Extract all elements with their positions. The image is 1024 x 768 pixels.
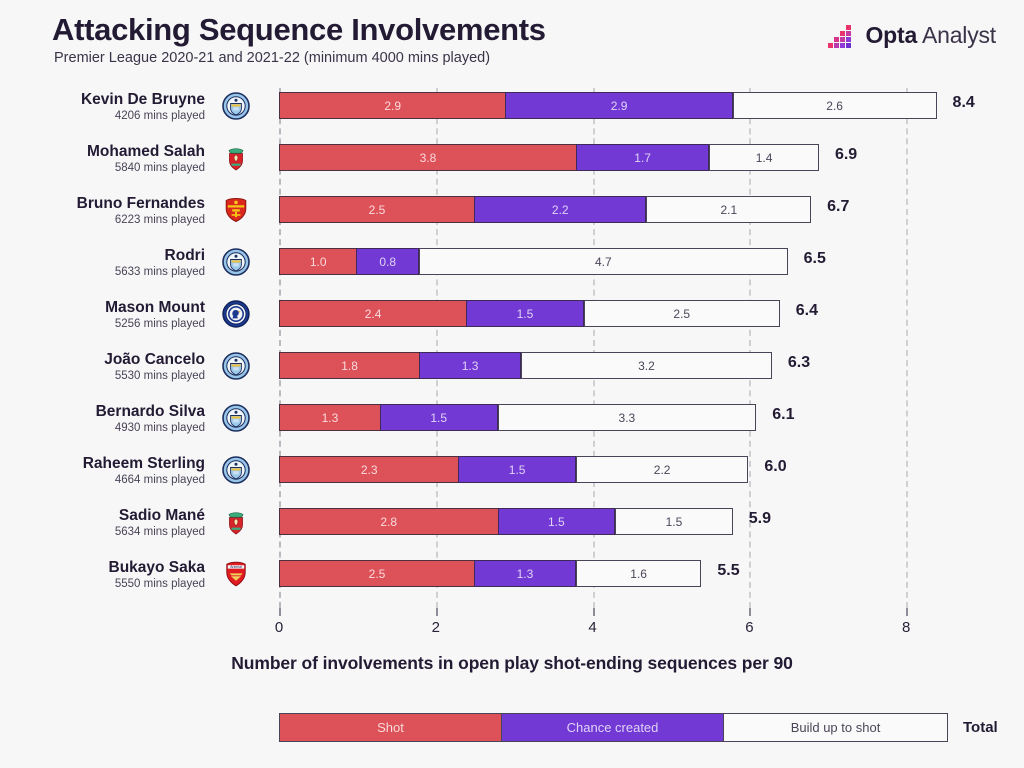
bar-segment-chance-created[interactable]: 1.5 bbox=[466, 300, 584, 327]
player-minutes-played: 4930 mins played bbox=[20, 421, 205, 436]
bar-segment-shot[interactable]: 1.3 bbox=[279, 404, 381, 431]
player-name: Mohamed Salah bbox=[20, 143, 205, 161]
bar-segment-shot[interactable]: 2.3 bbox=[279, 456, 459, 483]
bar-total-value: 5.9 bbox=[749, 510, 771, 528]
bar-total-value: 6.7 bbox=[827, 198, 849, 216]
player-name: Bernardo Silva bbox=[20, 403, 205, 421]
bar-total-value: 6.9 bbox=[835, 146, 857, 164]
axis-tick bbox=[436, 608, 438, 616]
chart-row: Bukayo Saka5550 mins playedArsenal2.51.3… bbox=[0, 556, 1024, 608]
chart-row: Bernardo Silva4930 mins played1.31.53.36… bbox=[0, 400, 1024, 452]
liverpool-badge bbox=[222, 508, 250, 536]
axis-tick-label: 4 bbox=[588, 619, 596, 636]
man-city-badge bbox=[222, 456, 250, 484]
stacked-bar[interactable]: 1.00.84.7 bbox=[279, 248, 789, 275]
x-axis: 02468 bbox=[0, 608, 1024, 648]
player-label: João Cancelo5530 mins played bbox=[20, 351, 205, 384]
chart-row: Sadio Mané5634 mins played2.81.51.55.9 bbox=[0, 504, 1024, 556]
bar-segment-shot[interactable]: 2.9 bbox=[279, 92, 506, 119]
stacked-bar[interactable]: 1.81.33.2 bbox=[279, 352, 773, 379]
opta-analyst-logo: Opta Analyst bbox=[828, 22, 996, 49]
bar-segment-chance-created[interactable]: 1.7 bbox=[576, 144, 709, 171]
bar-segment-shot[interactable]: 1.8 bbox=[279, 352, 420, 379]
player-label: Bruno Fernandes6223 mins played bbox=[20, 195, 205, 228]
legend-item-build-up-to-shot[interactable]: Build up to shot bbox=[724, 713, 948, 742]
logo-brand-opta: Opta bbox=[865, 22, 917, 48]
player-label: Mohamed Salah5840 mins played bbox=[20, 143, 205, 176]
bar-segment-shot[interactable]: 2.4 bbox=[279, 300, 467, 327]
chart-row: Raheem Sterling4664 mins played2.31.52.2… bbox=[0, 452, 1024, 504]
player-minutes-played: 5634 mins played bbox=[20, 525, 205, 540]
player-minutes-played: 6223 mins played bbox=[20, 213, 205, 228]
logo-brand-analyst: Analyst bbox=[922, 22, 996, 48]
chart-row: Bruno Fernandes6223 mins played2.52.22.1… bbox=[0, 192, 1024, 244]
bar-segment-shot[interactable]: 2.5 bbox=[279, 196, 475, 223]
axis-tick bbox=[906, 608, 908, 616]
axis-tick-label: 0 bbox=[275, 619, 283, 636]
bar-segment-chance-created[interactable]: 2.9 bbox=[505, 92, 732, 119]
player-name: Rodri bbox=[20, 247, 205, 265]
player-name: Raheem Sterling bbox=[20, 455, 205, 473]
chart-row: Mason Mount5256 mins played2.41.52.56.4 bbox=[0, 296, 1024, 348]
bar-segment-build-up-to-shot[interactable]: 1.6 bbox=[576, 560, 701, 587]
bar-segment-shot[interactable]: 2.8 bbox=[279, 508, 499, 535]
player-name: Kevin De Bruyne bbox=[20, 91, 205, 109]
bar-segment-chance-created[interactable]: 1.3 bbox=[419, 352, 521, 379]
bar-segment-chance-created[interactable]: 1.5 bbox=[458, 456, 576, 483]
x-axis-title: Number of involvements in open play shot… bbox=[0, 653, 1024, 674]
bar-segment-chance-created[interactable]: 0.8 bbox=[356, 248, 419, 275]
bar-segment-build-up-to-shot[interactable]: 1.4 bbox=[709, 144, 819, 171]
man-city-badge bbox=[222, 352, 250, 380]
page-title: Attacking Sequence Involvements bbox=[52, 12, 546, 48]
liverpool-badge bbox=[222, 144, 250, 172]
stacked-bar[interactable]: 2.81.51.5 bbox=[279, 508, 734, 535]
bar-segment-build-up-to-shot[interactable]: 3.2 bbox=[521, 352, 772, 379]
legend-item-chance-created[interactable]: Chance created bbox=[502, 713, 724, 742]
axis-tick bbox=[279, 608, 281, 616]
bar-segment-shot[interactable]: 2.5 bbox=[279, 560, 475, 587]
player-label: Kevin De Bruyne4206 mins played bbox=[20, 91, 205, 124]
player-name: Bruno Fernandes bbox=[20, 195, 205, 213]
player-label: Sadio Mané5634 mins played bbox=[20, 507, 205, 540]
man-utd-badge bbox=[222, 196, 250, 224]
chart-legend: Shot Chance created Build up to shot Tot… bbox=[279, 713, 998, 742]
stacked-bar[interactable]: 3.81.71.4 bbox=[279, 144, 820, 171]
axis-tick-label: 6 bbox=[745, 619, 753, 636]
chart-header: Attacking Sequence Involvements Premier … bbox=[0, 0, 1024, 80]
chart-row: Kevin De Bruyne4206 mins played2.92.92.6… bbox=[0, 88, 1024, 140]
svg-text:Arsenal: Arsenal bbox=[230, 565, 242, 569]
axis-tick-label: 2 bbox=[432, 619, 440, 636]
bar-total-value: 6.0 bbox=[764, 458, 786, 476]
bar-total-value: 8.4 bbox=[953, 94, 975, 112]
player-minutes-played: 5256 mins played bbox=[20, 317, 205, 332]
legend-item-total: Total bbox=[963, 719, 998, 736]
player-minutes-played: 5633 mins played bbox=[20, 265, 205, 280]
legend-item-shot[interactable]: Shot bbox=[279, 713, 502, 742]
player-minutes-played: 4664 mins played bbox=[20, 473, 205, 488]
axis-tick bbox=[749, 608, 751, 616]
chart-row: João Cancelo5530 mins played1.81.33.26.3 bbox=[0, 348, 1024, 400]
logo-wordmark: Opta Analyst bbox=[865, 22, 996, 49]
bar-segment-shot[interactable]: 3.8 bbox=[279, 144, 577, 171]
man-city-badge bbox=[222, 92, 250, 120]
arsenal-badge: Arsenal bbox=[222, 560, 250, 588]
bar-segment-chance-created[interactable]: 1.5 bbox=[380, 404, 498, 431]
player-minutes-played: 5550 mins played bbox=[20, 577, 205, 592]
player-name: Mason Mount bbox=[20, 299, 205, 317]
bar-segment-build-up-to-shot[interactable]: 1.5 bbox=[615, 508, 733, 535]
bar-segment-shot[interactable]: 1.0 bbox=[279, 248, 357, 275]
stacked-bar[interactable]: 2.31.52.2 bbox=[279, 456, 749, 483]
bar-total-value: 6.4 bbox=[796, 302, 818, 320]
bar-segment-chance-created[interactable]: 1.5 bbox=[498, 508, 616, 535]
stacked-bar[interactable]: 2.92.92.6 bbox=[279, 92, 938, 119]
player-minutes-played: 4206 mins played bbox=[20, 109, 205, 124]
player-name: Sadio Mané bbox=[20, 507, 205, 525]
man-city-badge bbox=[222, 404, 250, 432]
man-city-badge bbox=[222, 248, 250, 276]
bar-segment-build-up-to-shot[interactable]: 2.2 bbox=[576, 456, 748, 483]
bar-segment-build-up-to-shot[interactable]: 2.5 bbox=[584, 300, 780, 327]
bar-total-value: 6.5 bbox=[804, 250, 826, 268]
bar-segment-chance-created[interactable]: 1.3 bbox=[474, 560, 576, 587]
bar-segment-build-up-to-shot[interactable]: 2.6 bbox=[733, 92, 937, 119]
bar-total-value: 5.5 bbox=[717, 562, 739, 580]
player-label: Rodri5633 mins played bbox=[20, 247, 205, 280]
chart-row: Rodri5633 mins played1.00.84.76.5 bbox=[0, 244, 1024, 296]
player-label: Bukayo Saka5550 mins played bbox=[20, 559, 205, 592]
player-name: João Cancelo bbox=[20, 351, 205, 369]
axis-tick bbox=[593, 608, 595, 616]
bar-total-value: 6.3 bbox=[788, 354, 810, 372]
player-label: Mason Mount5256 mins played bbox=[20, 299, 205, 332]
stacked-bar[interactable]: 2.41.52.5 bbox=[279, 300, 781, 327]
bar-total-value: 6.1 bbox=[772, 406, 794, 424]
player-label: Bernardo Silva4930 mins played bbox=[20, 403, 205, 436]
axis-tick-label: 8 bbox=[902, 619, 910, 636]
bar-segment-build-up-to-shot[interactable]: 2.1 bbox=[646, 196, 811, 223]
mosaic-bars-icon bbox=[828, 23, 858, 49]
bar-segment-chance-created[interactable]: 2.2 bbox=[474, 196, 646, 223]
player-name: Bukayo Saka bbox=[20, 559, 205, 577]
stacked-bar[interactable]: 2.52.22.1 bbox=[279, 196, 812, 223]
bar-segment-build-up-to-shot[interactable]: 4.7 bbox=[419, 248, 787, 275]
stacked-bar[interactable]: 2.51.31.6 bbox=[279, 560, 702, 587]
player-minutes-played: 5840 mins played bbox=[20, 161, 205, 176]
bar-segment-build-up-to-shot[interactable]: 3.3 bbox=[498, 404, 757, 431]
player-minutes-played: 5530 mins played bbox=[20, 369, 205, 384]
player-label: Raheem Sterling4664 mins played bbox=[20, 455, 205, 488]
page-subtitle: Premier League 2020-21 and 2021-22 (mini… bbox=[54, 50, 490, 66]
stacked-bar[interactable]: 1.31.53.3 bbox=[279, 404, 757, 431]
chart-plot-area: Kevin De Bruyne4206 mins played2.92.92.6… bbox=[0, 88, 1024, 608]
chart-row: Mohamed Salah5840 mins played3.81.71.46.… bbox=[0, 140, 1024, 192]
chelsea-badge bbox=[222, 300, 250, 328]
